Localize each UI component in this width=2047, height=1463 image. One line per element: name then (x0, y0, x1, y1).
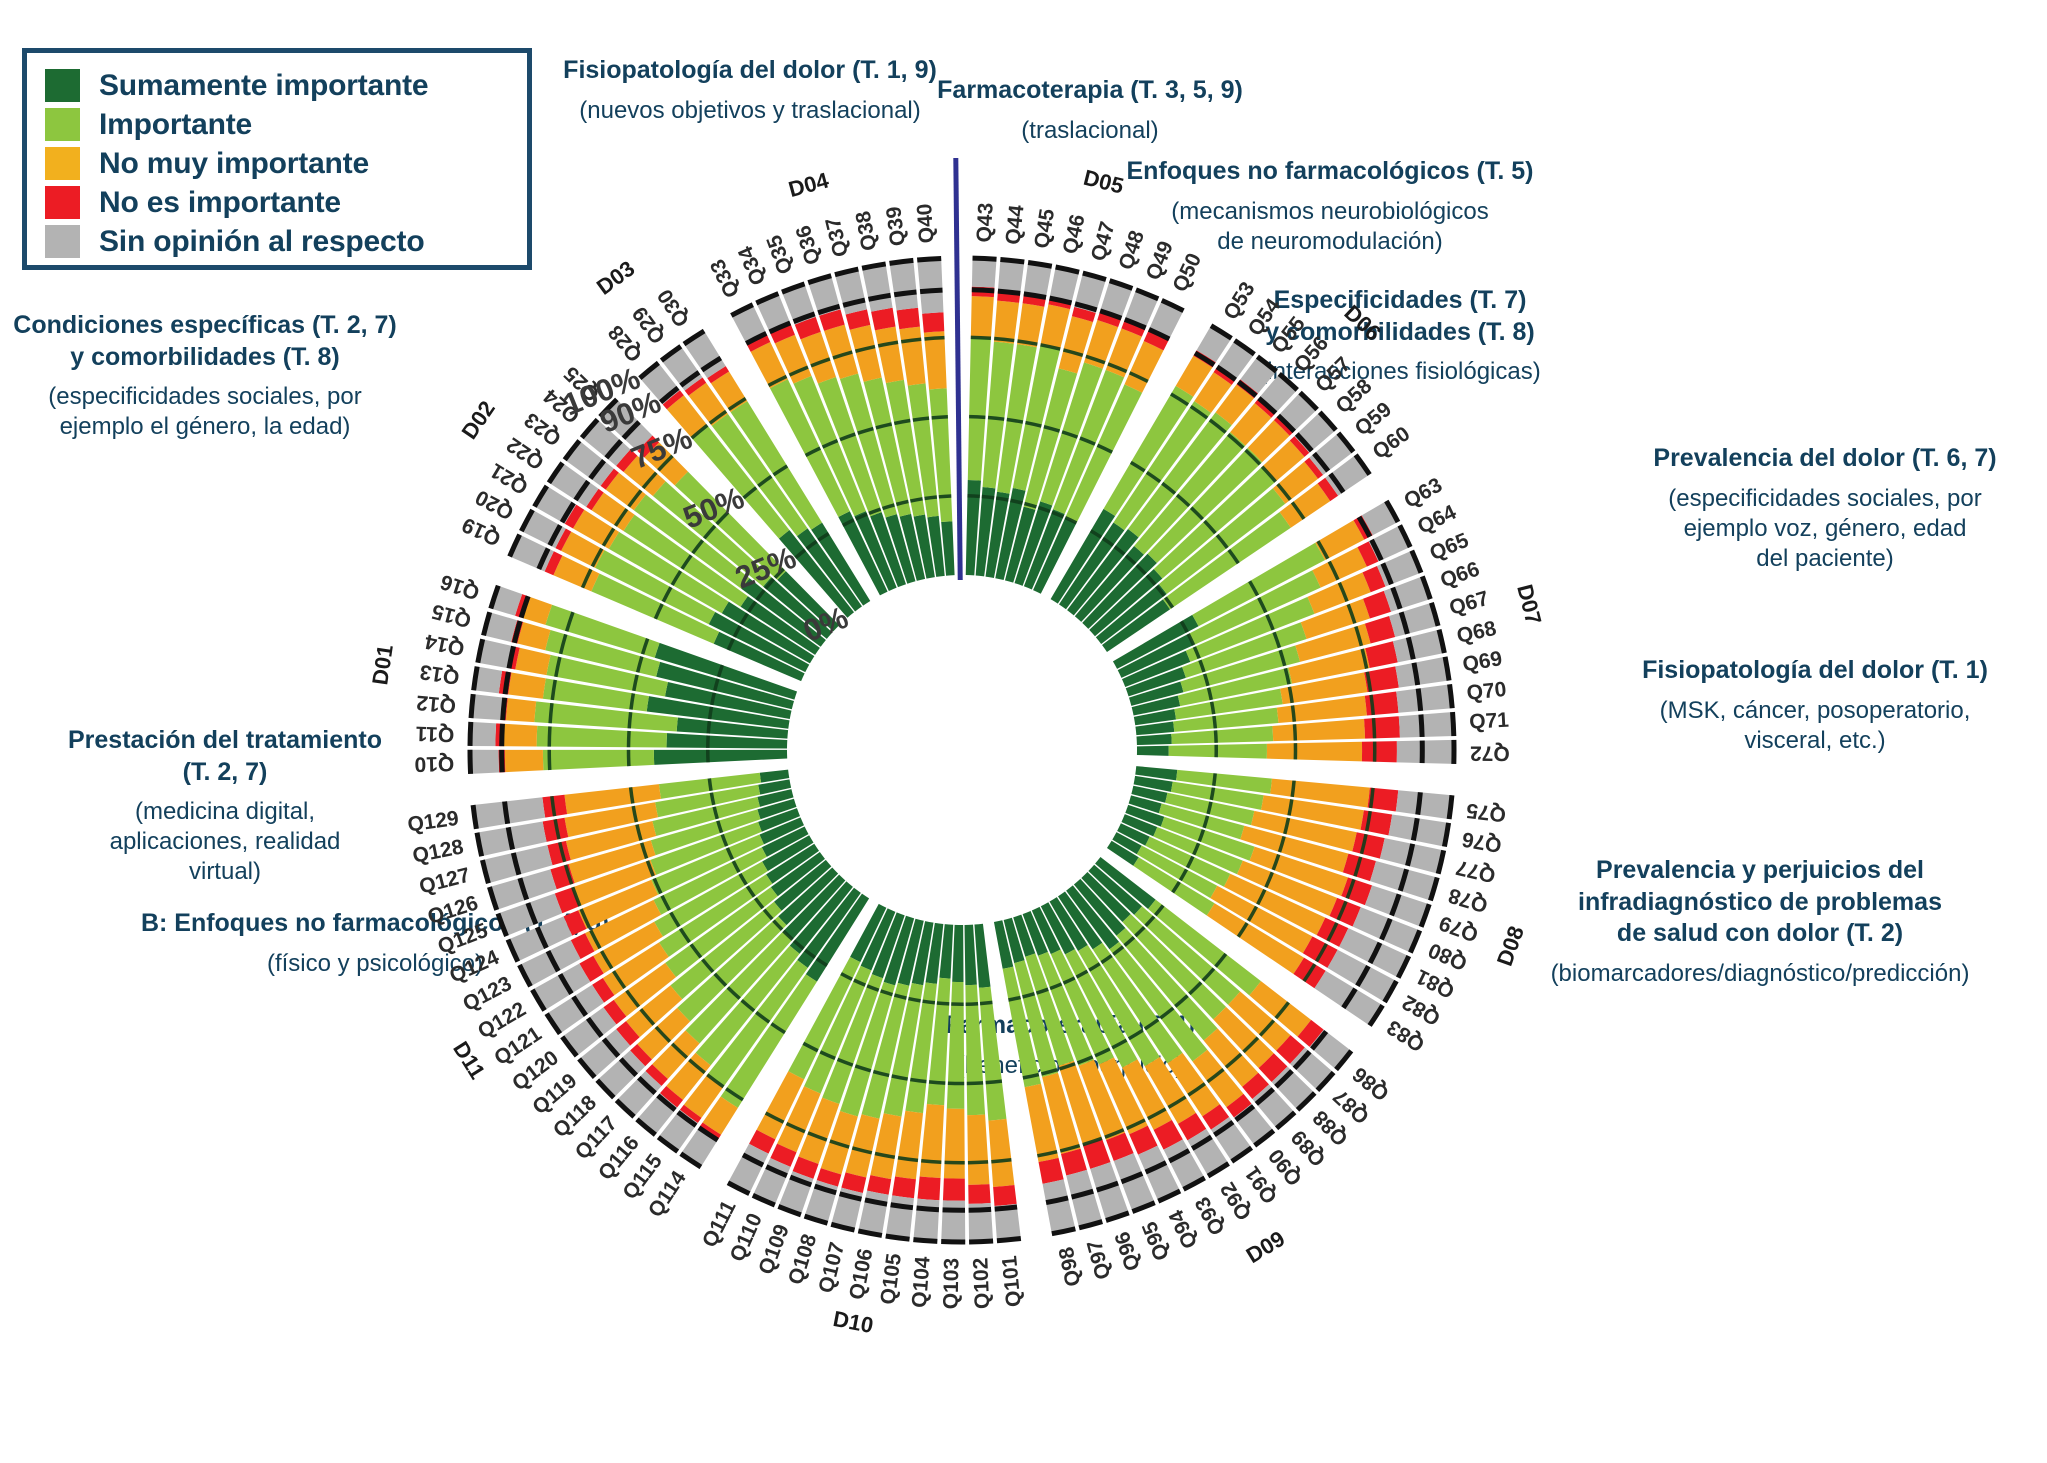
bar-segment (1396, 684, 1452, 712)
legend-swatch-icon (45, 225, 80, 258)
bar-gridline (1371, 788, 1373, 808)
legend-item-label: Importante (99, 108, 252, 142)
bar-segment (1361, 810, 1393, 835)
question-label: Q40 (913, 203, 939, 244)
bar-segment (1364, 716, 1400, 738)
bar-segment (988, 1119, 1014, 1187)
bar-gridline (988, 418, 1004, 420)
bar-gridline (549, 726, 550, 746)
annotation-title: Fisiopatología del dolor (T. 1, 9) (540, 55, 960, 87)
bar-gridline (967, 1083, 983, 1084)
bar-segment (947, 982, 965, 1109)
bar-gridline (708, 721, 709, 733)
bar-gridline (980, 1002, 992, 1003)
question-label: Q66 (1437, 558, 1482, 593)
bar-gridline (711, 793, 713, 805)
question-label: Q75 (1465, 799, 1507, 826)
domain-label-D03: D03 (592, 256, 639, 300)
domain-label-D08: D08 (1492, 923, 1529, 969)
bar-tick (913, 1240, 937, 1242)
bar-segment (471, 694, 505, 720)
legend-item-label: No es importante (99, 186, 341, 220)
legend-item-label: Sumamente importante (99, 69, 428, 103)
bar-segment (886, 1195, 914, 1239)
bar-gridline (1214, 773, 1215, 785)
question-label: Q46 (1059, 212, 1090, 256)
legend-swatch-icon (45, 108, 80, 141)
annotation-subtitle: (MSK, cáncer, posoperatorio,visceral, et… (1600, 696, 2030, 756)
bar-segment (508, 672, 546, 698)
bar-gridline (923, 1001, 935, 1003)
question-label: Q103 (940, 1258, 964, 1310)
question-label: Q36 (792, 223, 826, 268)
bar-segment (654, 750, 787, 765)
annotation-subtitle: (especificidades sociales, porejemplo vo… (1600, 484, 2047, 575)
question-label: Q97 (1083, 1238, 1116, 1282)
bar-segment (1399, 712, 1454, 738)
question-label: Q71 (1469, 709, 1510, 734)
bar-gridline (913, 418, 929, 420)
question-label: Q106 (845, 1247, 877, 1302)
bar-gridline (968, 1162, 988, 1163)
domain-label-D01: D01 (367, 643, 398, 687)
anno-fisiopatologia-t1-9: Fisiopatología del dolor (T. 1, 9)(nuevo… (540, 55, 960, 126)
bar-segment (913, 1199, 939, 1242)
bar-gridline (982, 497, 994, 498)
bar-segment (1362, 741, 1397, 762)
question-label: Q105 (876, 1252, 906, 1306)
domain-label-D11: D11 (448, 1037, 490, 1083)
question-label: Q78 (1445, 883, 1490, 916)
bar-segment (470, 750, 499, 774)
bar-gridline (1292, 781, 1294, 797)
bar-gridline (910, 499, 922, 501)
question-label: Q50 (1168, 250, 1206, 296)
bar-tick (1000, 259, 1024, 261)
bar-segment (1039, 1158, 1064, 1184)
bar-segment (892, 1177, 916, 1199)
question-label: Q10 (414, 752, 454, 776)
bar-tick (1453, 712, 1454, 736)
bar-segment (505, 750, 544, 772)
bar-segment (952, 925, 963, 982)
question-label: Q38 (852, 209, 882, 252)
bar-tick (502, 724, 503, 746)
question-label: Q44 (1002, 204, 1029, 246)
annotation-title: Prevalencia del dolor (T. 6, 7) (1600, 443, 2047, 475)
bar-gridline (937, 1003, 949, 1004)
bar-segment (974, 924, 990, 988)
annotation-subtitle: (nuevos objetivos y traslacional) (540, 96, 960, 126)
question-label: Q98 (1055, 1245, 1086, 1289)
question-label: Q102 (969, 1257, 994, 1309)
bar-tick (917, 1208, 939, 1210)
bar-segment (965, 925, 977, 986)
question-label: Q35 (762, 232, 797, 277)
question-label: Q104 (908, 1255, 935, 1308)
legend-swatch-icon (45, 186, 80, 219)
bar-segment (1396, 790, 1452, 819)
bar-gridline (967, 496, 979, 497)
domain-label-D07: D07 (1512, 582, 1546, 627)
bar-gridline (925, 497, 937, 499)
bar-segment (971, 296, 994, 338)
bar-gridline (924, 338, 944, 339)
bar-tick (470, 750, 471, 774)
bar-tick (969, 1241, 993, 1242)
bar-segment (890, 260, 919, 310)
bar-gridline (969, 417, 985, 418)
question-label: Q47 (1087, 219, 1120, 263)
bar-segment (543, 750, 654, 770)
bar-tick (920, 290, 942, 291)
bar-tick (471, 694, 473, 718)
bar-segment (922, 312, 944, 332)
bar-gridline (991, 1160, 1011, 1162)
bar-gridline (1211, 788, 1213, 800)
bar-segment (515, 648, 550, 675)
bar-segment (470, 722, 496, 746)
question-label: Q15 (429, 599, 474, 631)
question-label: Q76 (1460, 827, 1503, 856)
bar-gridline (1371, 695, 1373, 715)
bar-segment (943, 1178, 965, 1201)
anno-prevalencia-del-dolor-t6-7: Prevalencia del dolor (T. 6, 7)(especifi… (1600, 443, 2047, 574)
question-label: Q77 (1454, 855, 1498, 886)
bar-tick (505, 672, 508, 694)
bar-tick (470, 722, 471, 746)
bar-tick (997, 1238, 1021, 1240)
bar-segment (917, 258, 943, 313)
sector-divider-line (956, 158, 960, 580)
bar-gridline (971, 337, 991, 338)
domain-label-D05: D05 (1081, 165, 1126, 199)
question-label: Q107 (814, 1240, 849, 1295)
bar-gridline (550, 703, 552, 723)
bar-tick (886, 1236, 910, 1239)
legend-item-1: Importante (45, 105, 511, 144)
annotation-subtitle: (especificidades sociales, porejemplo el… (10, 382, 400, 442)
bar-gridline (631, 693, 633, 709)
bar-segment (967, 1114, 989, 1184)
question-label: Q43 (973, 202, 998, 243)
bar-tick (917, 258, 941, 260)
bar-gridline (1214, 716, 1215, 728)
anno-condiciones-especificas-t2-7: Condiciones específicas (T. 2, 7)y comor… (10, 310, 400, 442)
question-label: Q11 (415, 722, 455, 746)
question-label: Q129 (406, 807, 460, 837)
bar-gridline (629, 712, 630, 728)
bar-segment (941, 1200, 965, 1242)
bar-tick (890, 260, 914, 263)
bar-segment (968, 1184, 990, 1204)
bar-tick (503, 698, 505, 720)
question-label: Q37 (821, 215, 853, 259)
bar-gridline (709, 778, 711, 790)
question-label: Q39 (882, 205, 910, 247)
bar-gridline (629, 731, 630, 747)
legend-item-0: Sumamente importante (45, 66, 511, 105)
bar-gridline (631, 787, 633, 803)
bar-tick (891, 1205, 913, 1208)
bar-gridline (1295, 724, 1296, 740)
question-label: Q45 (1030, 207, 1059, 250)
bar-segment (998, 259, 1024, 293)
bar-segment (858, 1191, 888, 1236)
bar-tick (473, 805, 476, 829)
bar-gridline (996, 498, 1008, 500)
question-label: Q12 (415, 691, 457, 717)
question-label: Q72 (1470, 741, 1510, 764)
question-label: Q13 (418, 660, 461, 689)
question-label: Q96 (1111, 1229, 1145, 1274)
bar-segment (1395, 657, 1449, 688)
question-label: Q79 (1436, 911, 1481, 946)
bar-segment (972, 258, 997, 288)
domain-label-D09: D09 (1242, 1226, 1289, 1268)
bar-tick (1418, 792, 1421, 814)
anno-farmacoterapia-t3-5-9: Farmacoterapia (T. 3, 5, 9)(traslacional… (900, 75, 1280, 146)
annotation-title: Farmacoterapia (T. 3, 5, 9) (900, 75, 1280, 107)
circular-stacked-bar-chart: Q10Q11Q12Q13Q14Q15Q16Q19Q20Q21Q22Q23Q24Q… (352, 140, 1572, 1360)
bar-tick (973, 258, 997, 259)
legend-item-label: No muy importante (99, 147, 369, 181)
question-label: Q16 (438, 570, 483, 604)
bar-segment (897, 308, 920, 329)
bar-tick (502, 750, 503, 772)
bar-gridline (908, 999, 920, 1001)
bar-gridline (910, 1079, 926, 1081)
question-label: Q68 (1455, 617, 1499, 648)
bar-tick (505, 802, 508, 824)
question-label: Q127 (417, 864, 472, 899)
chart-svg: Q10Q11Q12Q13Q14Q15Q16Q19Q20Q21Q22Q23Q24Q… (352, 140, 1572, 1360)
bar-gridline (1293, 705, 1295, 721)
bar-segment (1267, 742, 1362, 762)
bar-segment (506, 698, 536, 722)
bar-segment (1136, 734, 1171, 745)
bar-gridline (929, 1082, 945, 1083)
bar-tick (1421, 715, 1422, 737)
question-label: Q67 (1447, 587, 1492, 620)
bar-segment (871, 308, 895, 331)
bar-tick (998, 291, 1020, 293)
bar-segment (1352, 832, 1384, 858)
bar-tick (1418, 689, 1420, 711)
question-label: Q70 (1466, 678, 1508, 705)
bar-gridline (1374, 718, 1375, 738)
bar-tick (1450, 684, 1453, 708)
bar-segment (862, 264, 893, 312)
bar-gridline (932, 417, 948, 418)
bar-tick (969, 1209, 991, 1210)
bar-gridline (994, 339, 1014, 341)
bar-tick (894, 292, 916, 295)
domain-label-D10: D10 (831, 1306, 875, 1338)
bar-segment (920, 1104, 945, 1178)
sector-divider-line (956, 158, 960, 580)
bar-gridline (710, 707, 712, 719)
bar-segment (1397, 740, 1454, 764)
bar-segment (917, 1177, 940, 1201)
bar-gridline (939, 496, 951, 497)
bar-segment (502, 724, 538, 747)
anno-fisiopatologia-t1: Fisiopatología del dolor (T. 1)(MSK, cán… (1600, 655, 2030, 756)
annotation-title: Condiciones específicas (T. 2, 7)y comor… (10, 310, 400, 373)
legend-swatch-icon (45, 147, 80, 180)
domain-label-D04: D04 (786, 167, 832, 202)
question-label: Q69 (1461, 647, 1504, 676)
bar-tick (972, 290, 994, 291)
bar-segment (944, 1109, 965, 1179)
question-label: Q48 (1114, 227, 1149, 272)
bar-segment (517, 622, 550, 650)
domain-label-D06: D06 (1339, 300, 1386, 346)
question-label: Q128 (411, 835, 466, 867)
bar-tick (1449, 795, 1452, 819)
bar-gridline (1212, 702, 1214, 714)
bar-gridline (986, 1081, 1002, 1083)
bar-gridline (1215, 730, 1216, 742)
bar-segment (1365, 641, 1397, 668)
bar-tick (995, 1207, 1017, 1209)
annotation-title: Fisiopatología del dolor (T. 1) (1600, 655, 2030, 687)
legend-swatch-icon (45, 69, 80, 102)
bar-segment (1137, 746, 1169, 756)
question-label: Q14 (423, 629, 467, 660)
question-label: Q101 (998, 1254, 1026, 1308)
domain-label-D02: D02 (456, 396, 499, 443)
bar-gridline (921, 1161, 941, 1163)
bar-segment (993, 1185, 1017, 1206)
